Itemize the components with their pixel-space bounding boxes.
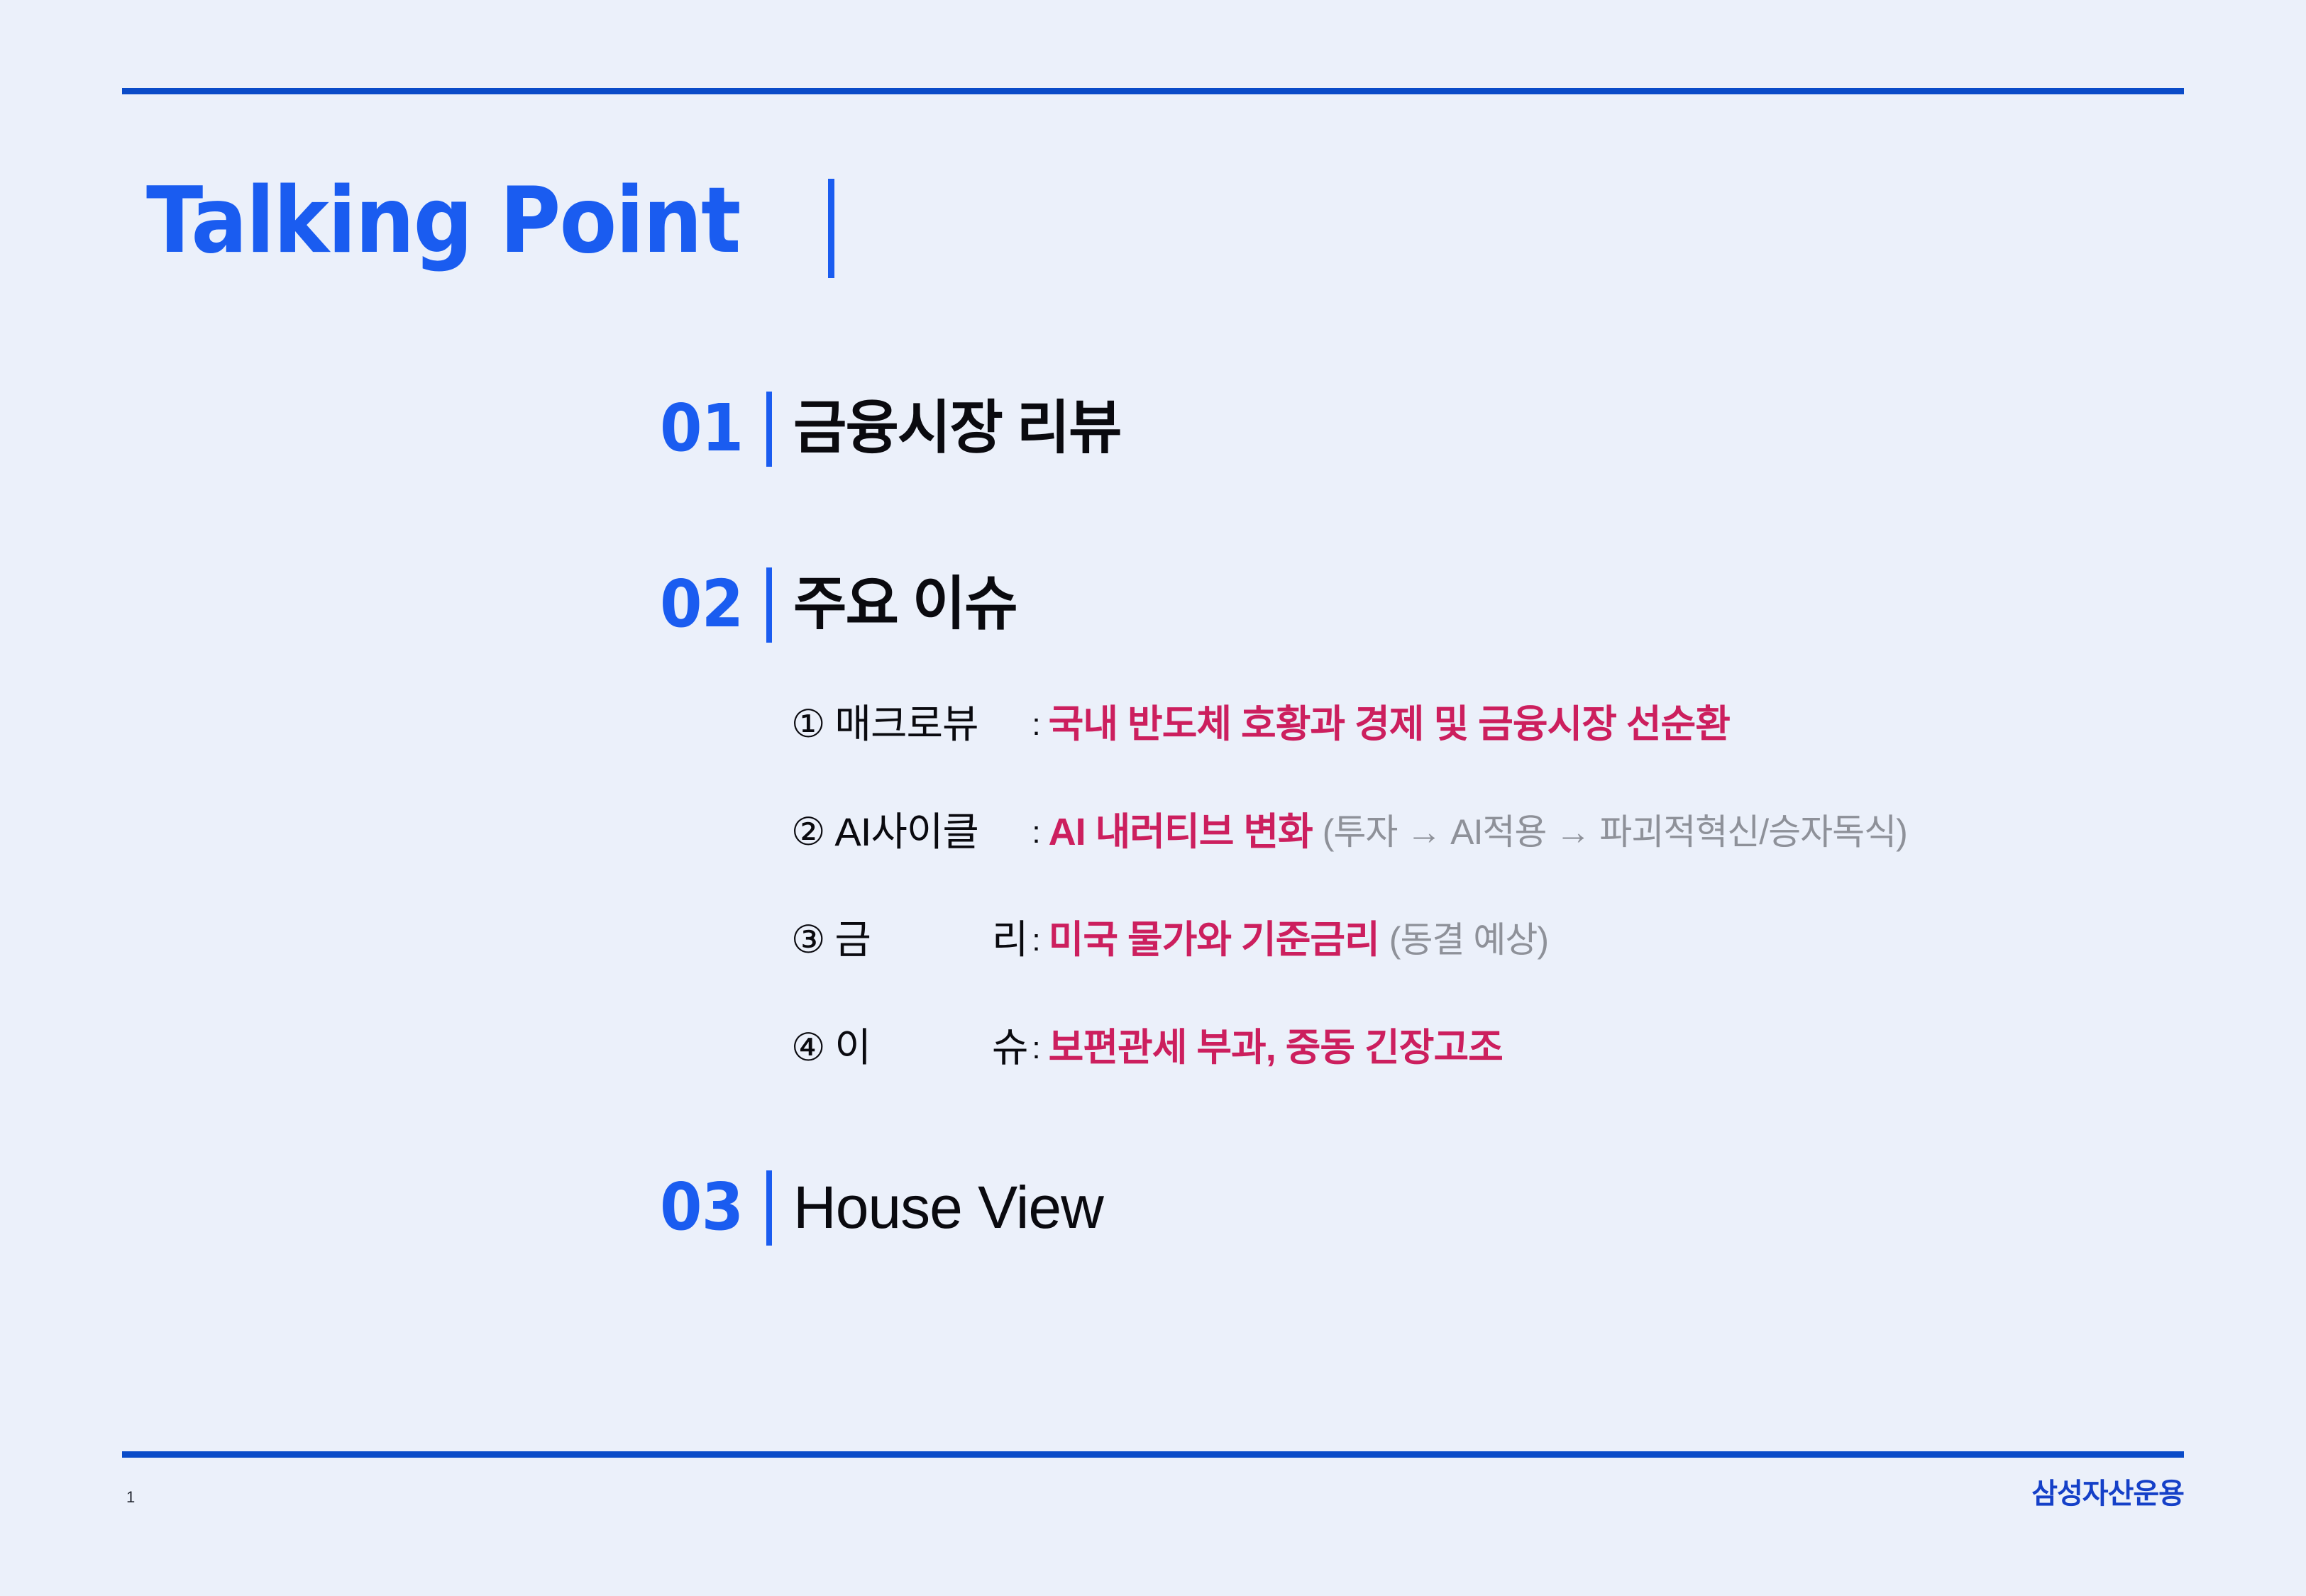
sub-item-label-part-b: 리: [992, 914, 1028, 965]
section-title: House View: [793, 1170, 1103, 1244]
section-title: 금융시장 리뷰: [793, 392, 1120, 465]
slide-canvas: Talking Point 01 금융시장 리뷰 02 주요 이슈 ① 매크로뷰…: [0, 0, 2306, 1596]
sub-item-label-part-a: 이: [834, 1022, 871, 1073]
section-accent-bar: [766, 392, 772, 467]
sub-item-colon: :: [1032, 914, 1039, 967]
section-accent-bar: [766, 567, 772, 643]
section-number: 02: [660, 567, 743, 641]
sub-item-colon: :: [1032, 807, 1039, 859]
section-item-01[interactable]: 01 금융시장 리뷰: [660, 392, 1120, 467]
section-title: 주요 이슈: [793, 567, 1017, 641]
sub-item-label: 이 슈: [834, 1022, 1027, 1073]
bottom-divider-rule: [122, 1451, 2184, 1458]
section-number: 03: [660, 1170, 743, 1244]
list-item[interactable]: ③ 금 리 : 미국 물가와 기준금리 (동결 예상): [791, 914, 1907, 1022]
list-item[interactable]: ② AI사이클 : AI 내러티브 변화 (투자 → AI적용 → 파괴적혁신/…: [791, 807, 1907, 914]
sub-item-list: ① 매크로뷰 : 국내 반도체 호황과 경제 및 금융시장 선순환 ② AI사이…: [791, 699, 1907, 1130]
title-accent-bar: [828, 179, 834, 278]
section-accent-bar: [766, 1170, 772, 1246]
sub-item-label: AI사이클: [834, 807, 1027, 858]
sub-item-label-part-a: AI사이클: [834, 807, 978, 858]
sub-item-colon: :: [1032, 1022, 1039, 1075]
sub-item-marker: ①: [791, 699, 824, 750]
sub-item-accent-text: AI 내러티브 변화: [1049, 807, 1313, 858]
top-divider-rule: [122, 88, 2184, 94]
page-number: 1: [126, 1488, 135, 1507]
brand-logo: 삼성자산운용: [2031, 1477, 2184, 1511]
sub-item-marker: ②: [791, 807, 824, 858]
page-title-text: Talking Point: [146, 176, 740, 267]
page-title: Talking Point: [146, 176, 834, 278]
sub-item-marker: ③: [791, 914, 824, 965]
sub-item-label-part-a: 금: [834, 914, 871, 965]
sub-item-marker: ④: [791, 1022, 824, 1073]
section-item-02[interactable]: 02 주요 이슈: [660, 567, 1017, 643]
list-item[interactable]: ① 매크로뷰 : 국내 반도체 호황과 경제 및 금융시장 선순환: [791, 699, 1907, 807]
sub-item-label: 금 리: [834, 914, 1027, 965]
sub-item-colon: :: [1032, 699, 1039, 751]
sub-item-muted-text: (투자 → AI적용 → 파괴적혁신/승자독식): [1323, 807, 1907, 858]
sub-item-accent-text: 미국 물가와 기준금리: [1049, 914, 1379, 965]
section-item-03[interactable]: 03 House View: [660, 1170, 1103, 1246]
sub-item-label: 매크로뷰: [834, 699, 1027, 750]
sub-item-label-part-b: 슈: [992, 1022, 1028, 1073]
sub-item-muted-text: (동결 예상): [1389, 914, 1548, 965]
sub-item-accent-text: 보편관세 부과, 중동 긴장고조: [1049, 1022, 1503, 1073]
sub-item-label-part-a: 매크로뷰: [834, 699, 978, 750]
section-number: 01: [660, 392, 743, 465]
sub-item-accent-text: 국내 반도체 호황과 경제 및 금융시장 선순환: [1049, 699, 1730, 750]
list-item[interactable]: ④ 이 슈 : 보편관세 부과, 중동 긴장고조: [791, 1022, 1907, 1130]
